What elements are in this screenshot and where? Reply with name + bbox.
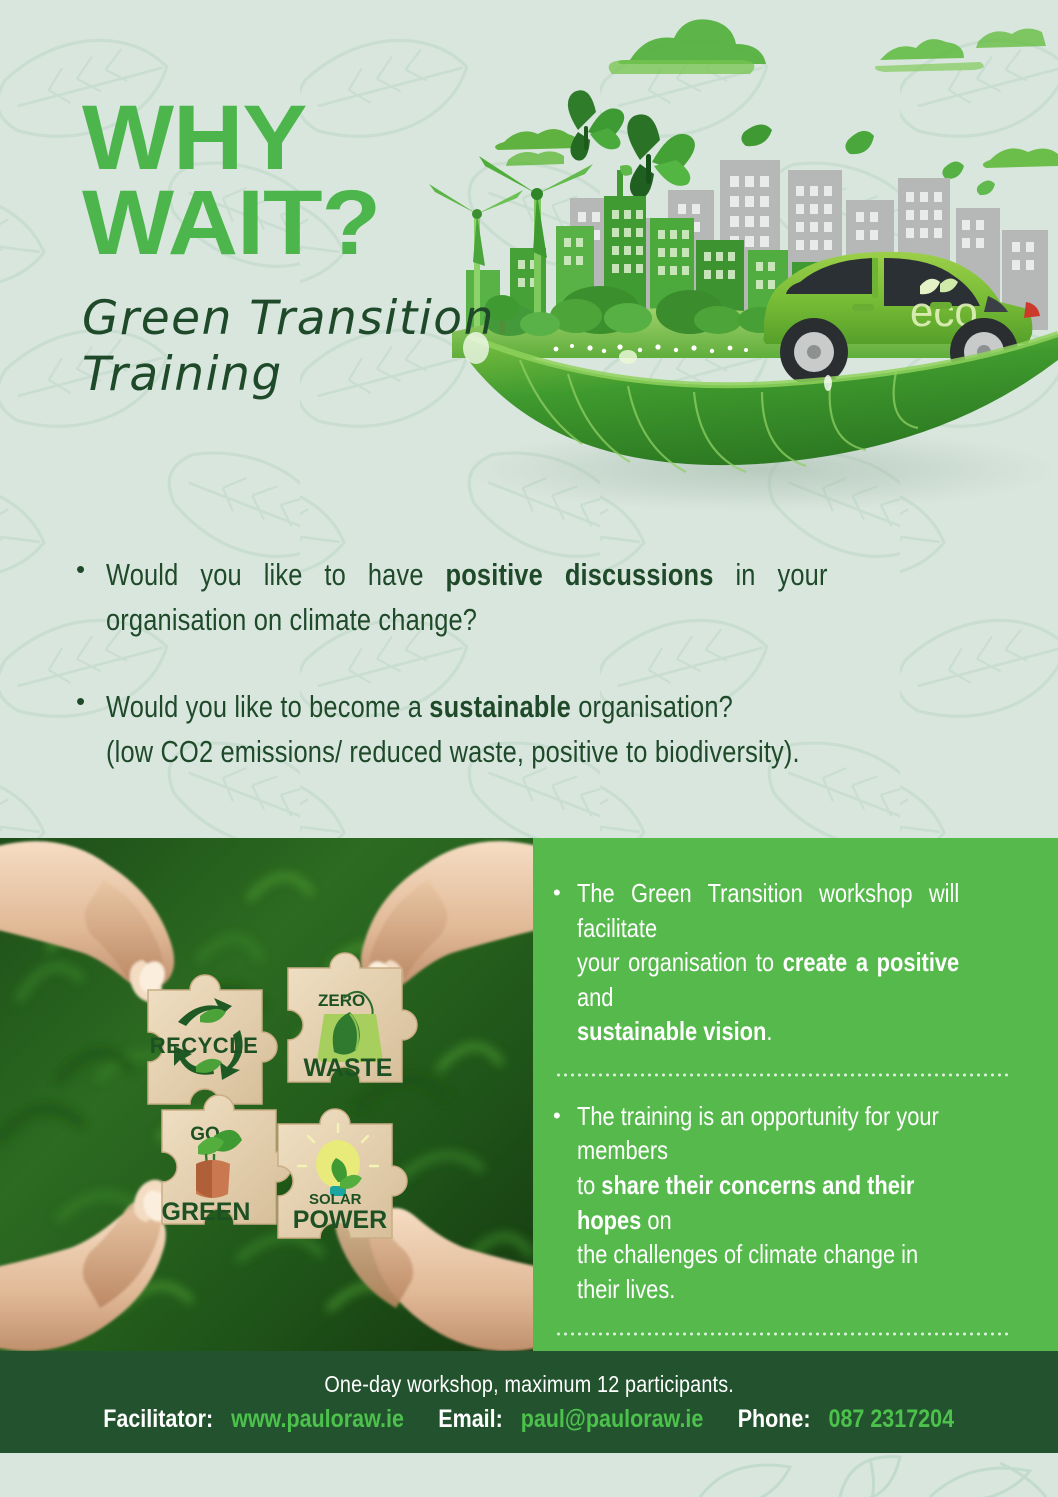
phone-number[interactable]: 087 2317204 (829, 1405, 955, 1433)
page-title-line1: WHY (82, 96, 520, 181)
b1-line3-c: . (766, 1016, 772, 1046)
floating-leaf-icon (741, 124, 772, 146)
b2-line2-c: on (641, 1205, 671, 1235)
b1-line2-a: your organisation to (577, 947, 783, 977)
page-subtitle-line1: Green Transition (82, 291, 495, 346)
workshop-details: One-day workshop, maximum 12 participant… (324, 1371, 734, 1398)
butterfly-icon (568, 90, 624, 160)
bullet-glyph: • (76, 685, 106, 775)
contact-line: Facilitator: www.pauloraw.ie Email: paul… (104, 1405, 955, 1434)
cloud-icon (976, 28, 1046, 48)
benefit-text: The Green Transition workshop will facil… (577, 876, 963, 1049)
questions-list: • Would you like to have positive discus… (76, 553, 956, 817)
benefits-panel: • The Green Transition workshop will fac… (533, 838, 1058, 1351)
dotted-divider (555, 1332, 1010, 1336)
benefit-item: • The Green Transition workshop will fac… (553, 876, 1036, 1049)
puzzle-piece-solar-power: SOLAR POWER (278, 1109, 407, 1238)
page-subtitle: Green Transition Training (82, 291, 495, 402)
floating-leaf-icon (845, 131, 874, 154)
q1-emphasis: positive discussions (446, 557, 714, 592)
benefit-text: The training is an opportunity for your … (577, 1099, 963, 1306)
svg-text:ZERO: ZERO (318, 991, 365, 1010)
butterfly-icon (627, 114, 695, 198)
bullet-glyph: • (553, 1099, 577, 1306)
benefit-item: • The training is an opportunity for you… (553, 1099, 1036, 1306)
svg-text:WASTE: WASTE (304, 1054, 393, 1082)
q1-part-c: in your (714, 557, 828, 592)
bullet-glyph: • (76, 553, 106, 643)
email-label: Email: (439, 1405, 504, 1433)
poster-root: eco (0, 0, 1058, 1497)
puzzle-piece-recycle: RECYCLE (148, 975, 277, 1104)
svg-text:GREEN: GREEN (162, 1198, 251, 1226)
question-item: • Would you like to have positive discus… (76, 553, 956, 643)
cloud-icon (609, 19, 766, 74)
contact-footer: One-day workshop, maximum 12 participant… (0, 1351, 1058, 1453)
b2-line1: The training is an opportunity for your … (577, 1099, 963, 1168)
q2-part-c: organisation? (571, 689, 733, 724)
b2-emphasis: share their concerns and their hopes (577, 1170, 914, 1235)
svg-text:POWER: POWER (293, 1206, 387, 1234)
puzzle-piece-zero-waste: ZERO WASTE (288, 953, 417, 1082)
q2-emphasis: sustainable (429, 689, 571, 724)
bullet-glyph: • (553, 876, 577, 1049)
q2-part-a: Would you like to become a (106, 689, 429, 724)
facilitator-label: Facilitator: (104, 1405, 214, 1433)
floating-leaf-icon (942, 161, 964, 179)
floating-bush-icon (983, 148, 1058, 168)
b1-emphasis-1: create a positive (783, 947, 959, 977)
bottom-decorative-strip (0, 1453, 1058, 1497)
title-block: WHY WAIT? Green Transition Training (82, 96, 495, 402)
b1-line1: The Green Transition workshop will facil… (577, 876, 959, 945)
svg-text:RECYCLE: RECYCLE (150, 1033, 259, 1058)
b1-line2-c: and (577, 982, 613, 1012)
question-item: • Would you like to become a sustainable… (76, 685, 956, 775)
facilitator-website-link[interactable]: www.pauloraw.ie (231, 1405, 404, 1433)
floating-leaf-icon (977, 180, 995, 195)
b2-line3: the challenges of climate change in thei… (577, 1237, 963, 1306)
question-text: Would you like to have positive discussi… (106, 553, 828, 643)
email-link[interactable]: paul@pauloraw.ie (521, 1405, 704, 1433)
puzzle-piece-go-green: GO GREEN (162, 1095, 291, 1226)
question-text: Would you like to become a sustainable o… (106, 685, 803, 775)
q1-part-a: Would you like to have (106, 557, 446, 592)
page-title-line2: WAIT? (82, 181, 520, 266)
b1-emphasis-2: sustainable vision (577, 1016, 766, 1046)
dotted-divider (555, 1073, 1010, 1077)
b2-line2-a: to (577, 1170, 601, 1200)
cloud-icon (875, 39, 984, 72)
q2-line2: (low CO2 emissions/ reduced waste, posit… (106, 730, 803, 775)
puzzle-hands-photo: RECYCLE ZERO WASTE GO (0, 838, 533, 1351)
phone-label: Phone: (738, 1405, 811, 1433)
q1-line2: organisation on climate change? (106, 598, 828, 643)
page-subtitle-line2: Training (82, 347, 495, 402)
